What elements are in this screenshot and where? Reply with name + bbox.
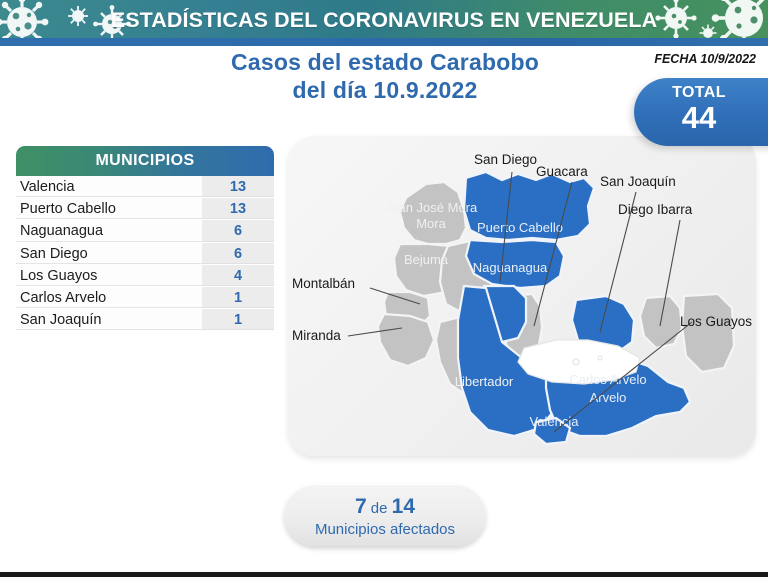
map-callout-guacara: Guacara	[536, 164, 588, 179]
table-row: San Joaquín1	[16, 309, 274, 331]
table-row: Carlos Arvelo1	[16, 287, 274, 309]
map-label-juan-jose-mora-2: Mora	[416, 216, 446, 231]
affected-de-label: de	[367, 500, 392, 517]
map-callout-montalban: Montalbán	[292, 276, 355, 291]
table-cell-count: 1	[202, 287, 274, 308]
affected-count-line: 7 de 14	[284, 495, 486, 519]
map-region-east-gray	[682, 294, 734, 372]
map-label-carlos-arvelo-2: Arvelo	[590, 390, 627, 405]
table-body: Valencia13Puerto Cabello13Naguanagua6San…	[16, 176, 274, 331]
table-header: MUNICIPIOS	[16, 146, 274, 176]
table-row: Valencia13	[16, 176, 274, 198]
table-row: Puerto Cabello13	[16, 198, 274, 220]
affected-count: 7	[355, 495, 367, 518]
table-cell-municipio: Naguanagua	[16, 220, 202, 241]
map-label-carlos-arvelo: Carlos Arvelo	[569, 372, 646, 387]
table-cell-count: 6	[202, 220, 274, 241]
affected-summary-badge: 7 de 14 Municipios afectados	[284, 484, 486, 546]
table-row: Los Guayos4	[16, 265, 274, 287]
table-cell-municipio: Los Guayos	[16, 265, 202, 286]
table-cell-count: 1	[202, 309, 274, 330]
carabobo-map: .mun-off { fill:#c3c3c3; stroke:#f4f4f4;…	[288, 136, 756, 456]
map-lake-island-2	[598, 356, 602, 360]
table-cell-count: 4	[202, 265, 274, 286]
map-lake-island	[573, 359, 579, 365]
table-cell-count: 6	[202, 243, 274, 264]
page-title: ESTADÍSTICAS DEL CORONAVIRUS EN VENEZUEL…	[0, 0, 768, 40]
table-cell-count: 13	[202, 176, 274, 197]
table-cell-municipio: Carlos Arvelo	[16, 287, 202, 308]
map-label-puerto-cabello: Puerto Cabello	[477, 220, 563, 235]
table-row: San Diego6	[16, 243, 274, 265]
date-label: FECHA 10/9/2022	[654, 52, 756, 66]
subtitle-block: Casos del estado Carabobo del día 10.9.2…	[150, 48, 620, 104]
map-callout-san-diego: San Diego	[474, 152, 537, 167]
map-label-libertador: Libertador	[455, 374, 514, 389]
infographic-page: ESTADÍSTICAS DEL CORONAVIRUS EN VENEZUEL…	[0, 0, 768, 577]
affected-total: 14	[392, 495, 415, 518]
map-label-bejuma: Bejuma	[404, 252, 449, 267]
affected-caption: Municipios afectados	[284, 521, 486, 538]
subtitle-line-2: del día 10.9.2022	[150, 76, 620, 104]
table-cell-municipio: San Diego	[16, 243, 202, 264]
header-banner: ESTADÍSTICAS DEL CORONAVIRUS EN VENEZUEL…	[0, 0, 768, 40]
map-callout-los-guayos: Los Guayos	[680, 314, 752, 329]
map-callout-san-joaquin: San Joaquín	[600, 174, 676, 189]
map-callout-miranda: Miranda	[292, 328, 341, 343]
table-row: Naguanagua6	[16, 220, 274, 242]
map-region-miranda	[378, 314, 434, 366]
map-label-juan-jose-mora: Juan José Mora	[385, 200, 478, 215]
table-cell-count: 13	[202, 198, 274, 219]
map-label-naguanagua: Naguanagua	[473, 260, 548, 275]
table-cell-municipio: Valencia	[16, 176, 202, 197]
subtitle-line-1: Casos del estado Carabobo	[150, 48, 620, 76]
map-panel: .mun-off { fill:#c3c3c3; stroke:#f4f4f4;…	[288, 136, 756, 456]
total-value: 44	[634, 101, 764, 135]
municipios-table: MUNICIPIOS Valencia13Puerto Cabello13Nag…	[16, 146, 274, 331]
map-label-valencia: Valencia	[530, 414, 580, 429]
table-cell-municipio: Puerto Cabello	[16, 198, 202, 219]
total-badge: TOTAL 44	[634, 78, 768, 146]
map-callout-diego-ibarra: Diego Ibarra	[618, 202, 693, 217]
table-cell-municipio: San Joaquín	[16, 309, 202, 330]
